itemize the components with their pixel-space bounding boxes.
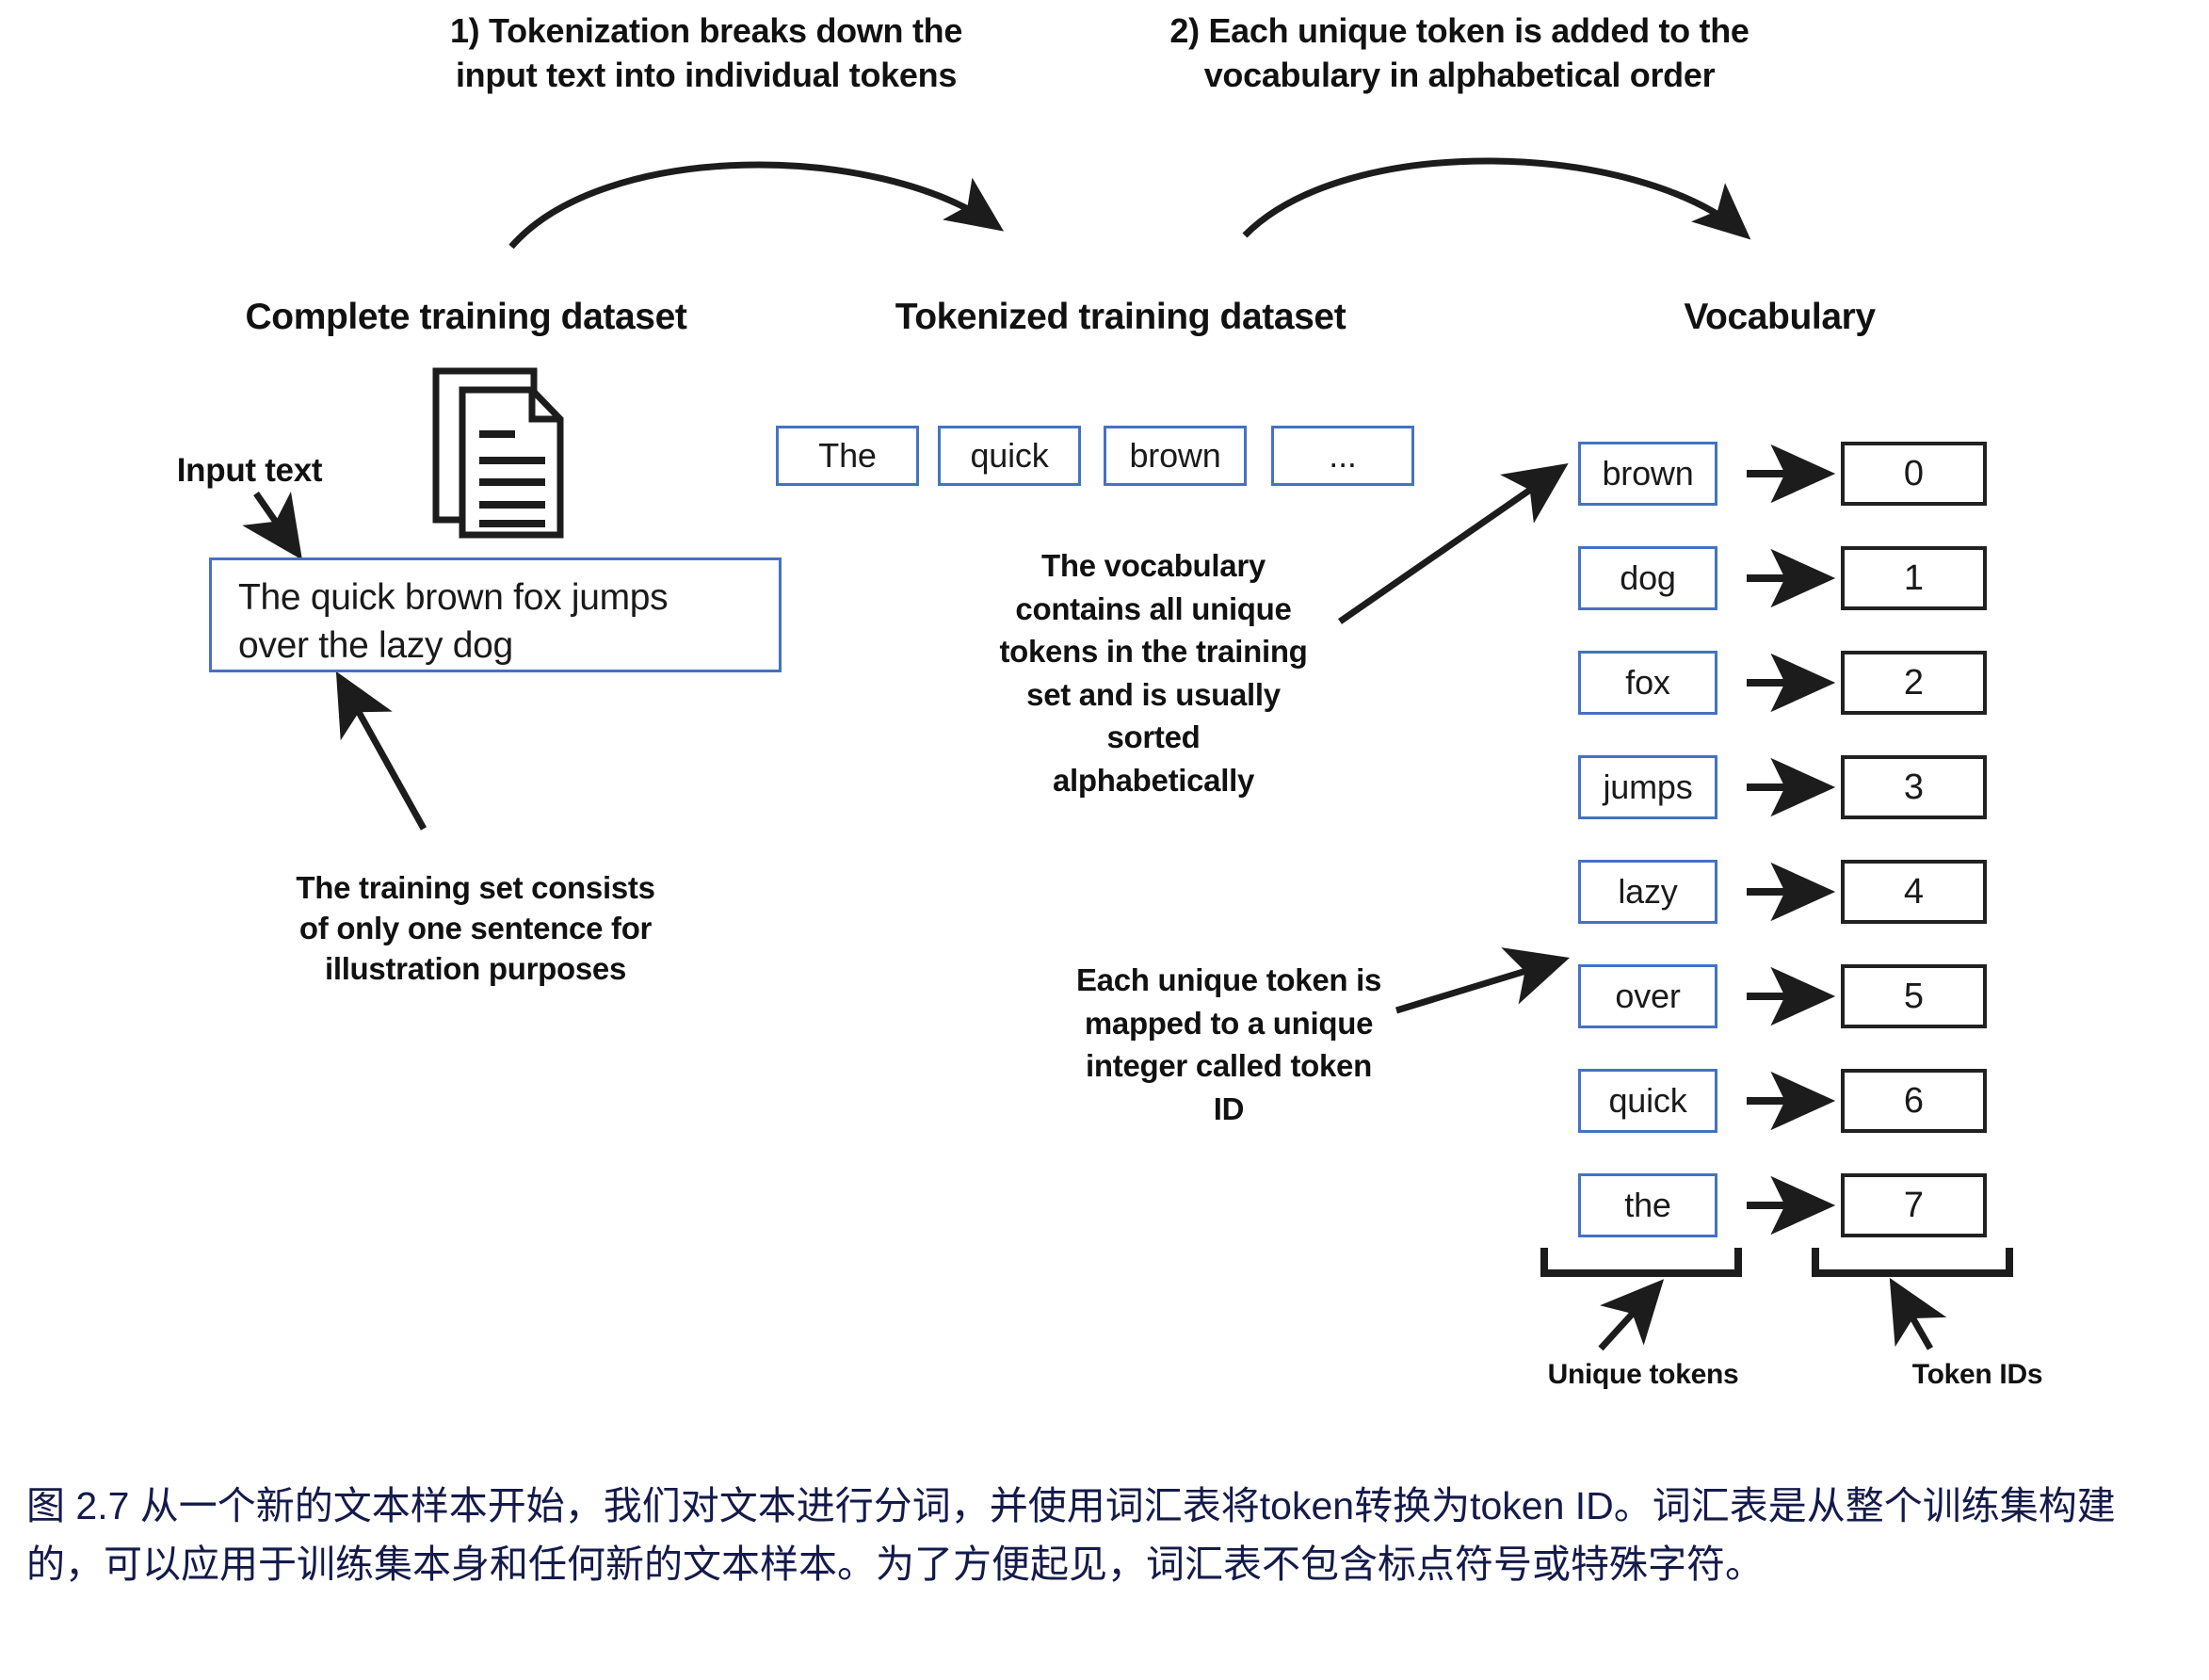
vocab-id-2: 2 — [1841, 651, 1987, 715]
tokenized-token-2: brown — [1104, 426, 1247, 486]
arrow-tokenid-note — [1396, 961, 1560, 1010]
curved-arrow-step2 — [1245, 161, 1744, 235]
input-text-label: Input text — [113, 449, 386, 493]
token-to-id-arrows — [1747, 474, 1825, 1205]
arrow-vocab-note — [1340, 469, 1560, 622]
vocab-token-4: lazy — [1578, 860, 1717, 924]
vocab-id-4: 4 — [1841, 860, 1987, 924]
vocab-token-6: quick — [1578, 1069, 1717, 1133]
column-title-tokenized: Tokenized training dataset — [791, 297, 1450, 338]
step-2-label: 2) Each unique token is added to the voc… — [1158, 9, 1761, 98]
vocab-token-2: fox — [1578, 651, 1717, 715]
tokenized-token-3: ... — [1271, 426, 1414, 486]
vocab-token-7: the — [1578, 1173, 1717, 1237]
vocab-id-1: 1 — [1841, 546, 1987, 610]
token-id-note: Each unique token is mapped to a unique … — [1045, 959, 1412, 1130]
column-title-dataset: Complete training dataset — [132, 297, 800, 338]
training-set-note: The training set consists of only one se… — [240, 868, 711, 990]
input-text-line-2: over the lazy dog — [238, 622, 779, 670]
arrow-input-label — [256, 493, 297, 552]
vocab-id-0: 0 — [1841, 442, 1987, 506]
tokenized-token-0: The — [776, 426, 919, 486]
input-text-box: The quick brown fox jumps over the lazy … — [209, 557, 782, 672]
vocab-id-3: 3 — [1841, 755, 1987, 819]
arrow-training-note — [341, 680, 424, 829]
arrow-token-ids-label — [1895, 1286, 1930, 1349]
unique-tokens-label: Unique tokens — [1483, 1356, 1803, 1393]
input-text-line-1: The quick brown fox jumps — [238, 573, 779, 622]
vocab-token-3: jumps — [1578, 755, 1717, 819]
figure-canvas: 1) Tokenization breaks down the input te… — [0, 0, 2209, 1450]
documents-icon — [428, 365, 570, 544]
arrow-unique-tokens-label — [1601, 1286, 1657, 1349]
tokenized-token-1: quick — [938, 426, 1081, 486]
step-1-label: 1) Tokenization breaks down the input te… — [414, 9, 998, 98]
token-ids-label: Token IDs — [1846, 1356, 2109, 1393]
vocabulary-note: The vocabulary contains all unique token… — [956, 544, 1351, 801]
vocab-id-5: 5 — [1841, 964, 1987, 1028]
figure-caption: 图 2.7 从一个新的文本样本开始，我们对文本进行分词，并使用词汇表将token… — [26, 1477, 2192, 1594]
vocab-id-6: 6 — [1841, 1069, 1987, 1133]
vocab-id-7: 7 — [1841, 1173, 1987, 1237]
bracket-unique-tokens — [1544, 1248, 1738, 1273]
curved-arrow-step1 — [511, 165, 996, 247]
bracket-token-ids — [1815, 1248, 2009, 1273]
column-title-vocabulary: Vocabulary — [1544, 297, 2015, 338]
vocab-token-0: brown — [1578, 442, 1717, 506]
vocab-token-5: over — [1578, 964, 1717, 1028]
vocab-token-1: dog — [1578, 546, 1717, 610]
